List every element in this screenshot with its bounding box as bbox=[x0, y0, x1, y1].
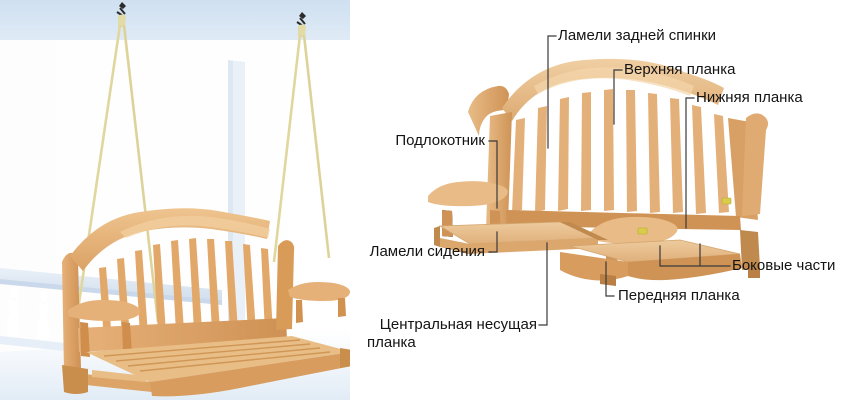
leader-armrest bbox=[489, 141, 497, 208]
leader-side-parts bbox=[660, 244, 730, 266]
label-back-slats: Ламели задней спинки bbox=[558, 27, 716, 45]
leader-front-rail bbox=[606, 262, 614, 296]
label-center-beam-line1: Центральная несущая bbox=[367, 316, 537, 334]
label-center-beam-line2: планка bbox=[367, 334, 416, 352]
leader-center-beam bbox=[539, 243, 547, 325]
illustration-canvas: Ламели задней спинки Верхняя планка Нижн… bbox=[0, 0, 850, 400]
label-bottom-rail: Нижняя планка bbox=[696, 89, 803, 107]
label-armrest: Подлокотник bbox=[385, 132, 485, 150]
label-front-rail: Передняя планка bbox=[618, 287, 740, 305]
label-side-parts: Боковые части bbox=[732, 257, 835, 275]
label-seat-slats: Ламели сидения bbox=[365, 243, 485, 261]
leader-top-rail bbox=[614, 70, 622, 124]
leader-seat-slats bbox=[489, 232, 497, 252]
leader-back-slats bbox=[548, 36, 556, 148]
leader-lines bbox=[0, 0, 850, 400]
leader-bottom-rail bbox=[686, 98, 694, 228]
label-top-rail: Верхняя планка bbox=[624, 61, 735, 79]
